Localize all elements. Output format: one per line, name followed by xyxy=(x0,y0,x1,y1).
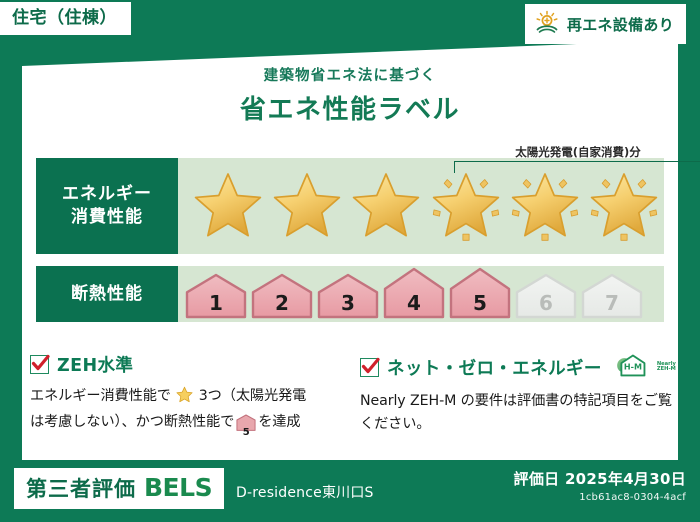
insulation-level-value: 7 xyxy=(580,293,644,313)
checkbox-checked-icon xyxy=(30,355,49,374)
inline-level-badge-value: 5 xyxy=(236,428,256,438)
criteria-left-text-2: は考慮しない）、かつ断熱性能で xyxy=(30,414,234,430)
zeh-m-logo-icon: H-M Nearly ZEH-M xyxy=(616,352,676,382)
insulation-level-7: 7 xyxy=(580,273,644,319)
insulation-level-value: 3 xyxy=(316,293,380,313)
insulation-level-3: 3 xyxy=(316,273,380,319)
criteria-left-text-3: を達成 xyxy=(258,414,300,430)
insulation-performance-body: 1234567 xyxy=(178,266,664,322)
insulation-level-value: 1 xyxy=(184,293,248,313)
renewable-badge-label: 再エネ設備あり xyxy=(567,14,674,35)
building-name: D-residence東川口S xyxy=(236,482,374,502)
insulation-level-value: 6 xyxy=(514,293,578,313)
criteria-left-text-1: エネルギー消費性能で xyxy=(30,388,171,404)
energy-performance-body: 太陽光発電(自家消費)分 xyxy=(178,158,664,254)
insulation-level-value: 4 xyxy=(382,293,446,313)
insulation-level-1: 1 xyxy=(184,273,248,319)
criteria-right-header: ネット・ゼロ・エネルギー H-M Nearly ZEH-M xyxy=(360,352,678,382)
insulation-level-value: 2 xyxy=(250,293,314,313)
energy-performance-row: エネルギー 消費性能 太陽光発電(自家消費)分 xyxy=(36,158,664,254)
inline-level-badge: 5 xyxy=(236,414,256,439)
energy-performance-label: 住宅（住棟） 再エネ設備あり 建築物省エネ法に基づく 省エネ性能ラベル xyxy=(0,0,700,522)
checkbox-checked-icon xyxy=(360,358,379,377)
criteria-left-star-count: 3つ（太陽光発電 xyxy=(199,388,307,404)
criteria-left-body: エネルギー消費性能で 3つ（太陽光発電は考慮しない）、かつ断熱性能で 5 を達成 xyxy=(30,385,340,439)
bels-en-label: BELS xyxy=(144,473,212,502)
evaluation-id: 1cb61ac8-0304-4acf xyxy=(514,492,686,503)
renewable-energy-badge: 再エネ設備あり xyxy=(525,4,686,44)
energy-label-line2: 消費性能 xyxy=(71,206,143,229)
evaluation-date: 評価日 2025年4月30日 xyxy=(514,468,686,489)
criteria-right-body: Nearly ZEH-M の要件は評価書の特記項目をご覧ください。 xyxy=(360,390,678,436)
insulation-level-scale: 1234567 xyxy=(178,266,664,322)
bels-jp-label: 第三者評価 xyxy=(26,473,136,503)
footer: 第三者評価 BELS D-residence東川口S 評価日 2025年4月30… xyxy=(0,460,700,522)
energy-label-line1: エネルギー xyxy=(62,183,152,206)
insulation-performance-row: 断熱性能 1234567 xyxy=(36,266,664,322)
insulation-performance-label: 断熱性能 xyxy=(36,266,178,322)
bels-badge: 第三者評価 BELS xyxy=(14,468,224,509)
title-subtitle: 建築物省エネ法に基づく xyxy=(0,64,700,85)
star-rating xyxy=(178,158,664,254)
svg-text:H-M: H-M xyxy=(624,362,642,371)
inline-star-icon xyxy=(172,391,198,407)
title-block: 建築物省エネ法に基づく 省エネ性能ラベル xyxy=(0,64,700,126)
insulation-level-value: 5 xyxy=(448,293,512,313)
insulation-level-4: 4 xyxy=(382,267,446,319)
star-4 xyxy=(426,158,505,254)
energy-performance-label: エネルギー 消費性能 xyxy=(36,158,178,254)
insulation-level-2: 2 xyxy=(250,273,314,319)
insulation-level-6: 6 xyxy=(514,273,578,319)
criteria-zeh-standard: ZEH水準 エネルギー消費性能で 3つ（太陽光発電は考慮しない）、かつ断熱性能で… xyxy=(30,352,340,439)
criteria-left-title: ZEH水準 xyxy=(57,352,133,377)
insulation-label-text: 断熱性能 xyxy=(71,283,143,306)
zeh-m-logo-sub-2: ZEH-M xyxy=(657,367,676,372)
star-2 xyxy=(267,158,346,254)
star-1 xyxy=(188,158,267,254)
category-tag: 住宅（住棟） xyxy=(0,2,131,35)
star-5 xyxy=(505,158,584,254)
footer-right: 評価日 2025年4月30日 1cb61ac8-0304-4acf xyxy=(514,468,686,503)
insulation-level-5: 5 xyxy=(448,267,512,319)
star-6 xyxy=(585,158,664,254)
criteria-right-title: ネット・ゼロ・エネルギー xyxy=(387,355,602,380)
criteria-net-zero-energy: ネット・ゼロ・エネルギー H-M Nearly ZEH-M xyxy=(360,352,678,436)
title-main: 省エネ性能ラベル xyxy=(0,89,700,126)
star-3 xyxy=(347,158,426,254)
solar-sun-icon xyxy=(534,10,560,38)
criteria-left-header: ZEH水準 xyxy=(30,352,340,377)
